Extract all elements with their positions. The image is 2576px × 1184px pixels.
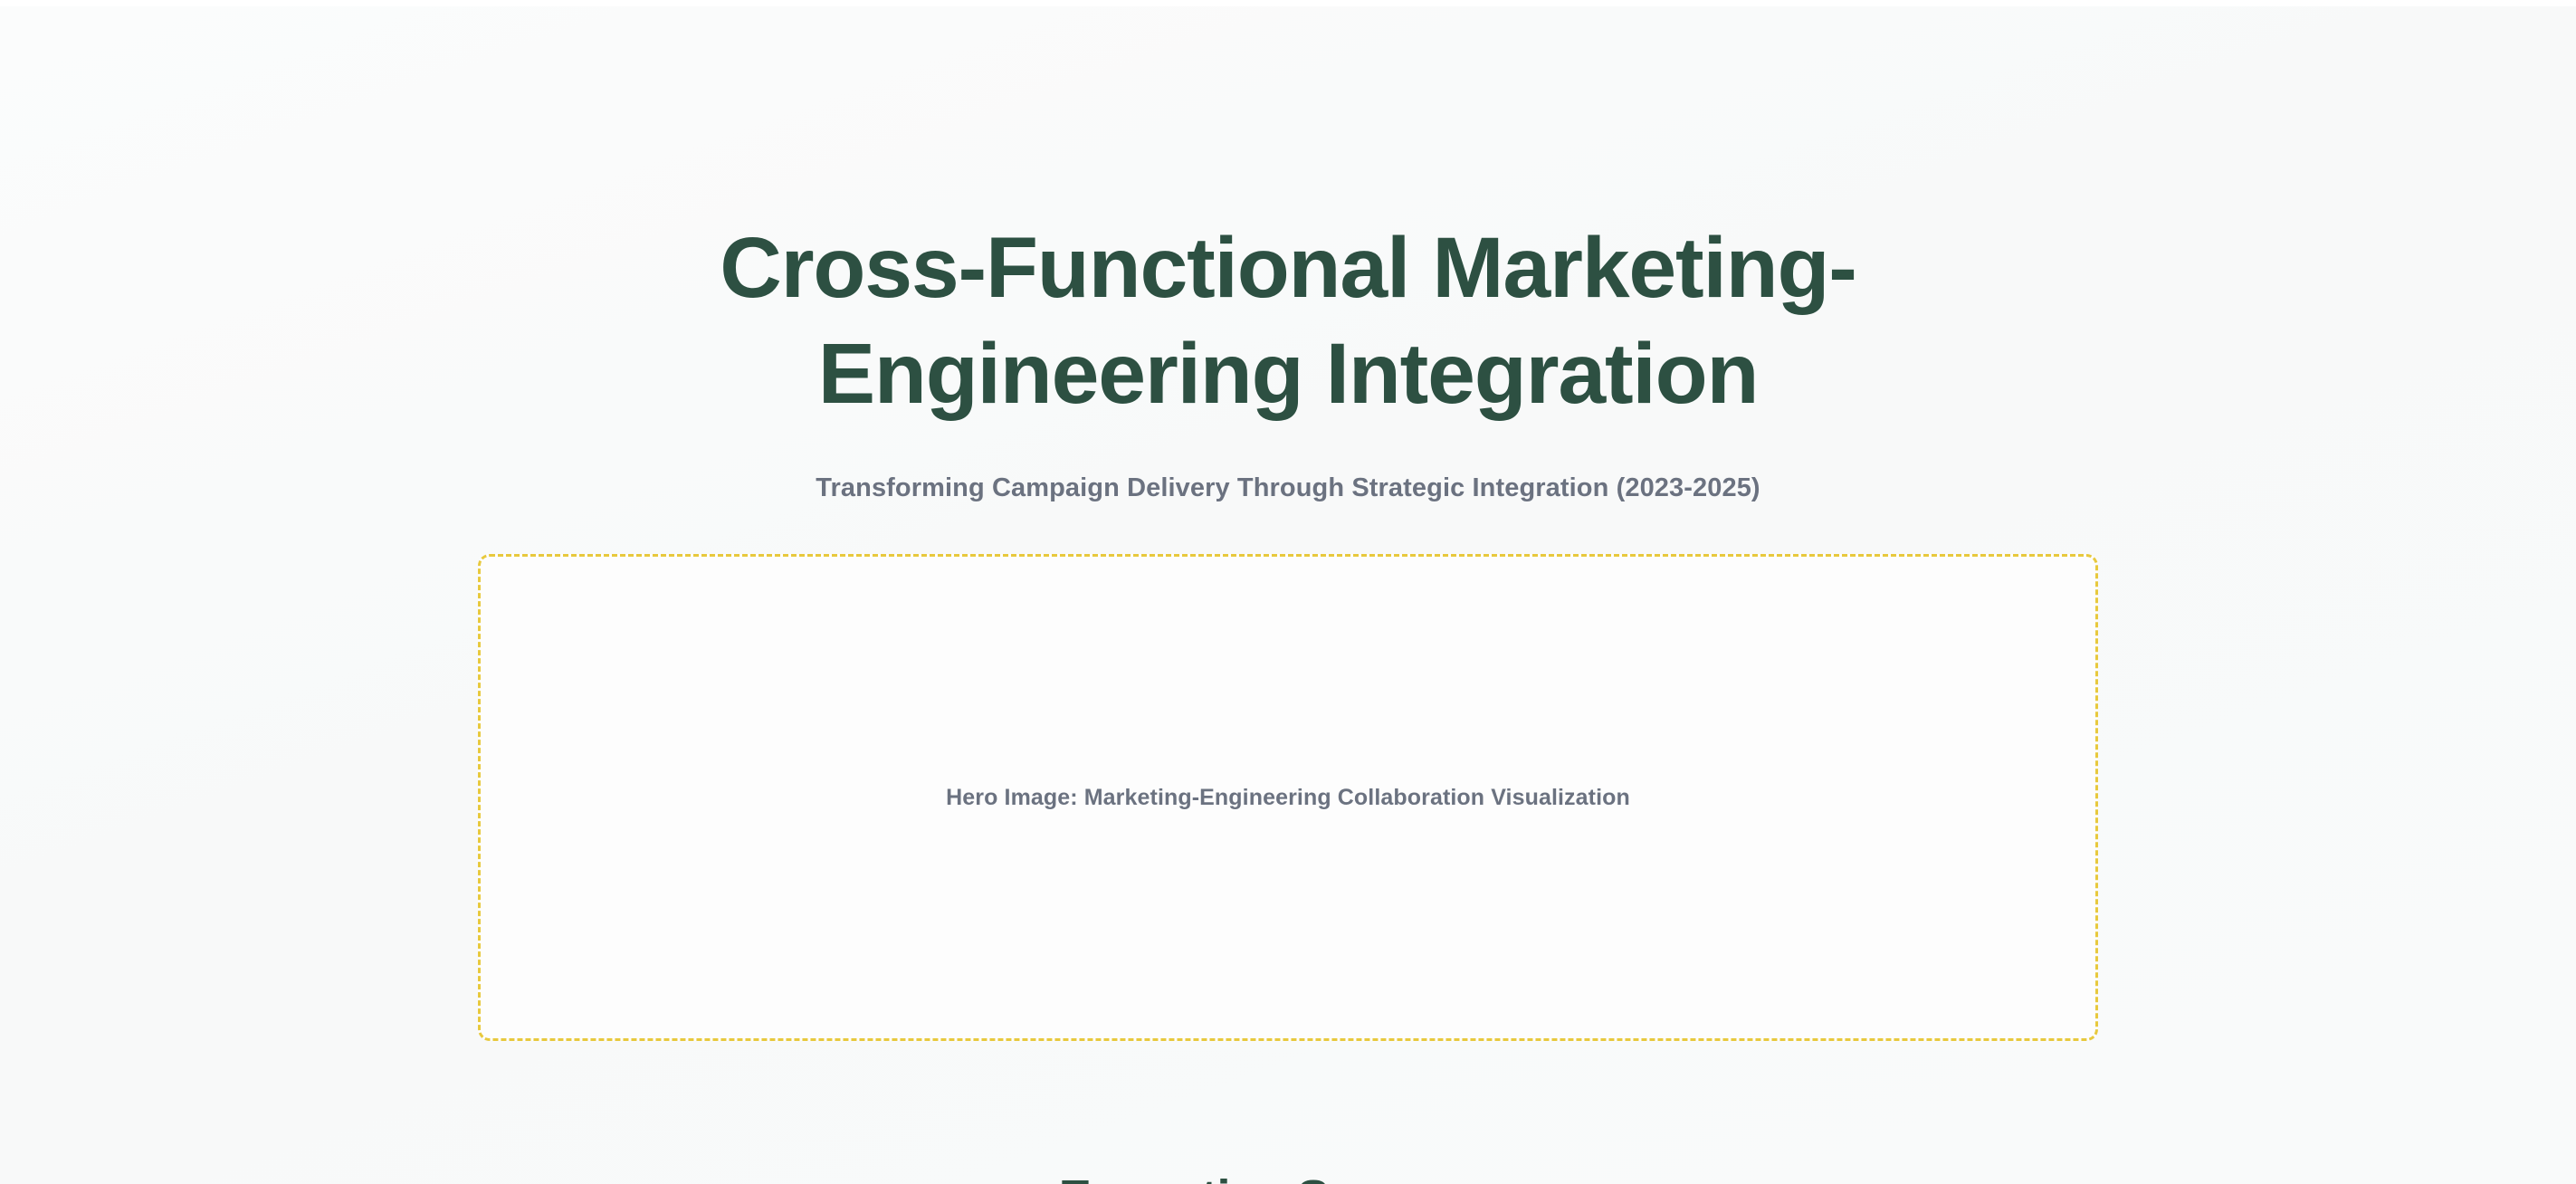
document-page: Cross-Functional Marketing-Engineering I… [0, 0, 2576, 1184]
section-heading-executive-summary: Executive Summary [1059, 1168, 1517, 1184]
hero-image-caption: Hero Image: Marketing-Engineering Collab… [946, 785, 1630, 811]
executive-summary-section: Executive Summary [0, 1168, 2576, 1184]
page-subtitle: Transforming Campaign Delivery Through S… [478, 471, 2098, 505]
hero-section: Cross-Functional Marketing-Engineering I… [0, 0, 2576, 1041]
hero-image-placeholder: Hero Image: Marketing-Engineering Collab… [478, 554, 2098, 1041]
page-title: Cross-Functional Marketing-Engineering I… [478, 215, 2098, 427]
